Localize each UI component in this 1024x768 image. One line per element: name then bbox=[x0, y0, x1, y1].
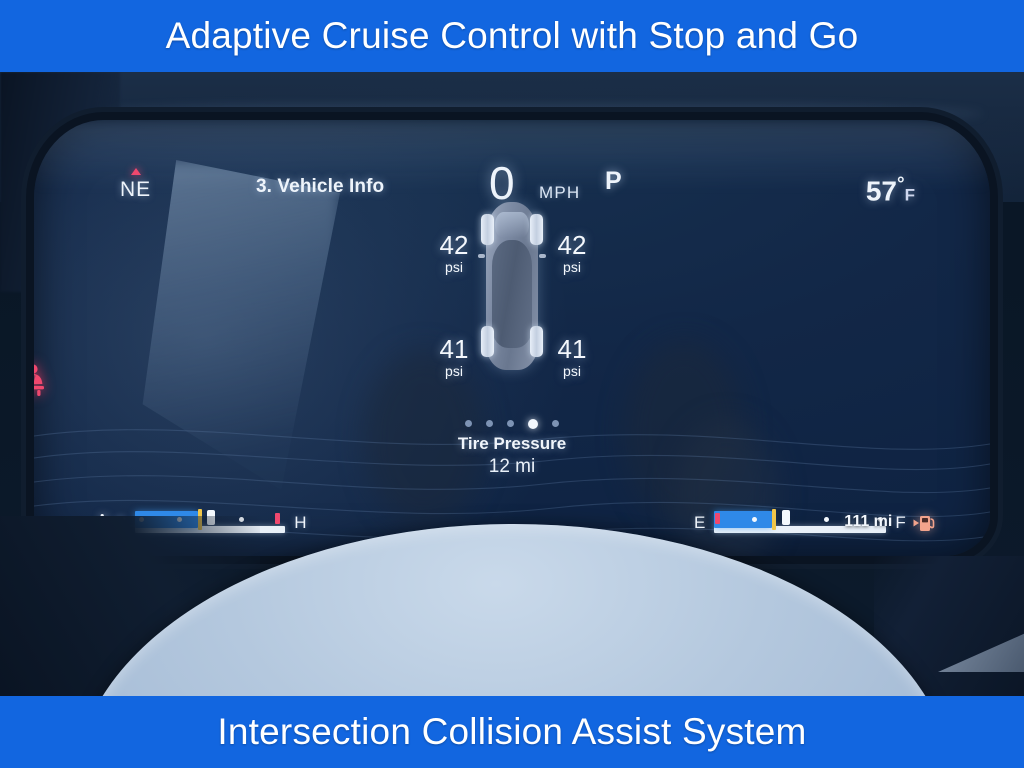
bottom-caption-banner: Intersection Collision Assist System bbox=[0, 696, 1024, 768]
pressure-unit: psi bbox=[426, 259, 482, 275]
page-dot-1[interactable] bbox=[465, 420, 472, 427]
gauge-tick bbox=[824, 517, 829, 522]
tire-rear-left bbox=[481, 326, 494, 357]
top-caption-banner: Adaptive Cruise Control with Stop and Go bbox=[0, 0, 1024, 72]
seatbelt-warning-icon bbox=[34, 363, 48, 397]
page-indicator-dots[interactable] bbox=[34, 420, 990, 429]
tire-front-right bbox=[530, 214, 543, 245]
temperature-value: 57 bbox=[866, 175, 897, 206]
fuel-pump-icon bbox=[912, 514, 938, 532]
tire-front-left bbox=[481, 214, 494, 245]
page-dot-4-active[interactable] bbox=[528, 419, 538, 429]
speed-value: 0 bbox=[489, 160, 515, 206]
fuel-low-tick bbox=[715, 513, 720, 524]
tire-pressure-rear-right: 41 psi bbox=[544, 336, 600, 379]
gear-indicator: P bbox=[605, 167, 622, 196]
fuel-level-gauge: E 111 mi F bbox=[694, 506, 938, 540]
pressure-value: 42 bbox=[544, 232, 600, 258]
instrument-cluster-display[interactable]: NE 3. Vehicle Info 0 MPH P 57°F bbox=[34, 120, 990, 556]
dashboard-photo: NE 3. Vehicle Info 0 MPH P 57°F bbox=[0, 72, 1024, 696]
temperature-unit: F bbox=[905, 185, 915, 204]
bottom-banner-text: Intersection Collision Assist System bbox=[217, 711, 806, 753]
page-dot-2[interactable] bbox=[486, 420, 493, 427]
pressure-unit: psi bbox=[544, 363, 600, 379]
car-hood-highlight bbox=[495, 212, 529, 238]
outside-temperature: 57°F bbox=[866, 174, 915, 207]
car-roof bbox=[492, 240, 532, 348]
fuel-min-label: E bbox=[694, 513, 705, 533]
pressure-value: 41 bbox=[426, 336, 482, 362]
pressure-value: 41 bbox=[544, 336, 600, 362]
fuel-gauge-fill bbox=[714, 511, 772, 528]
page-dot-3[interactable] bbox=[507, 420, 514, 427]
compass-arrow-icon bbox=[131, 168, 141, 175]
tire-pressure-front-left: 42 psi bbox=[426, 232, 482, 275]
pressure-unit: psi bbox=[426, 363, 482, 379]
tire-rear-right bbox=[530, 326, 543, 357]
widget-distance: 12 mi bbox=[34, 456, 990, 478]
gauge-redline-tick bbox=[275, 513, 280, 524]
tire-pressure-rear-left: 41 psi bbox=[426, 336, 482, 379]
gauge-tick bbox=[782, 510, 790, 525]
widget-caption: Tire Pressure bbox=[34, 434, 990, 454]
fuel-gauge-marker bbox=[772, 509, 776, 530]
coolant-max-label: H bbox=[294, 513, 306, 533]
fuel-range-text: 111 mi bbox=[844, 513, 892, 531]
fuel-max-label: F bbox=[895, 513, 905, 533]
speed-unit-label: MPH bbox=[539, 183, 580, 203]
top-banner-text: Adaptive Cruise Control with Stop and Go bbox=[166, 15, 859, 57]
compass-heading: NE bbox=[120, 178, 151, 202]
pressure-unit: psi bbox=[544, 259, 600, 275]
fuel-gauge-track: 111 mi bbox=[714, 513, 886, 533]
degree-symbol: ° bbox=[897, 174, 905, 195]
tire-pressure-front-right: 42 psi bbox=[544, 232, 600, 275]
cluster-menu-title: 3. Vehicle Info bbox=[256, 176, 384, 198]
pressure-value: 42 bbox=[426, 232, 482, 258]
page-dot-5[interactable] bbox=[552, 420, 559, 427]
vehicle-top-view-graphic bbox=[472, 202, 552, 370]
